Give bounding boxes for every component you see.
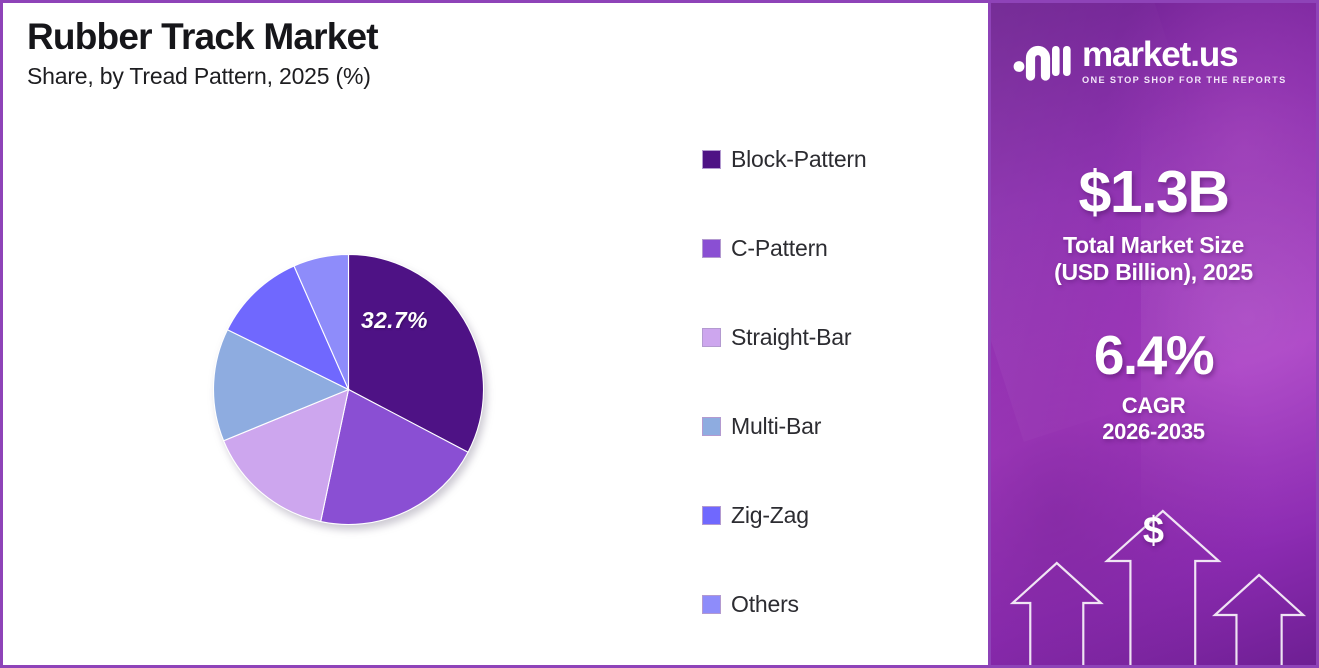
stat-block-cagr: 6.4% CAGR 2026-2035 [991, 328, 1316, 445]
pie-chart: 32.7% [213, 254, 484, 525]
brand-tagline: ONE STOP SHOP FOR THE REPORTS [1082, 75, 1287, 85]
legend-swatch-icon [702, 595, 721, 614]
page-subtitle: Share, by Tread Pattern, 2025 (%) [27, 63, 378, 90]
chart-legend: Block-PatternC-PatternStraight-BarMulti-… [702, 115, 972, 649]
three-growth-arrows-icon [991, 475, 1316, 665]
stat-caption-line2: (USD Billion), 2025 [991, 259, 1316, 286]
brand-logo-text: market.us ONE STOP SHOP FOR THE REPORTS [1082, 36, 1287, 85]
legend-item[interactable]: Straight-Bar [702, 293, 972, 382]
stat-caption-market-size: Total Market Size (USD Billion), 2025 [991, 232, 1316, 286]
legend-item-label: Zig-Zag [731, 502, 809, 529]
infographic-root: Rubber Track Market Share, by Tread Patt… [0, 0, 1319, 668]
legend-item-label: Straight-Bar [731, 324, 851, 351]
stat-caption-line1: CAGR [991, 393, 1316, 419]
legend-item[interactable]: Others [702, 560, 972, 649]
legend-swatch-icon [702, 150, 721, 169]
chart-heading-group: Rubber Track Market Share, by Tread Patt… [27, 17, 378, 90]
brand-stats: $1.3B Total Market Size (USD Billion), 2… [991, 163, 1316, 445]
market-us-bars-icon [1013, 36, 1071, 82]
brand-panel: market.us ONE STOP SHOP FOR THE REPORTS … [988, 3, 1316, 665]
stat-caption-line1: Total Market Size [991, 232, 1316, 259]
page-title: Rubber Track Market [27, 17, 378, 57]
legend-item[interactable]: Block-Pattern [702, 115, 972, 204]
legend-swatch-icon [702, 328, 721, 347]
legend-swatch-icon [702, 239, 721, 258]
brand-logo: market.us ONE STOP SHOP FOR THE REPORTS [1013, 36, 1287, 85]
legend-item-label: Multi-Bar [731, 413, 821, 440]
legend-item-label: Others [731, 591, 799, 618]
stat-caption-line2: 2026-2035 [991, 419, 1316, 445]
legend-item[interactable]: Zig-Zag [702, 471, 972, 560]
stat-value-cagr: 6.4% [991, 328, 1316, 383]
stat-value-market-size: $1.3B [991, 163, 1316, 222]
dollar-sign-icon: $ [991, 510, 1316, 553]
chart-panel: Rubber Track Market Share, by Tread Patt… [3, 3, 988, 665]
brand-wordmark: market.us [1082, 37, 1287, 72]
legend-item-label: C-Pattern [731, 235, 828, 262]
legend-item[interactable]: Multi-Bar [702, 382, 972, 471]
legend-swatch-icon [702, 417, 721, 436]
stat-block-market-size: $1.3B Total Market Size (USD Billion), 2… [991, 163, 1316, 286]
legend-swatch-icon [702, 506, 721, 525]
stat-caption-cagr: CAGR 2026-2035 [991, 393, 1316, 445]
pie-slices-svg [213, 254, 484, 525]
legend-item-label: Block-Pattern [731, 146, 866, 173]
legend-item[interactable]: C-Pattern [702, 204, 972, 293]
